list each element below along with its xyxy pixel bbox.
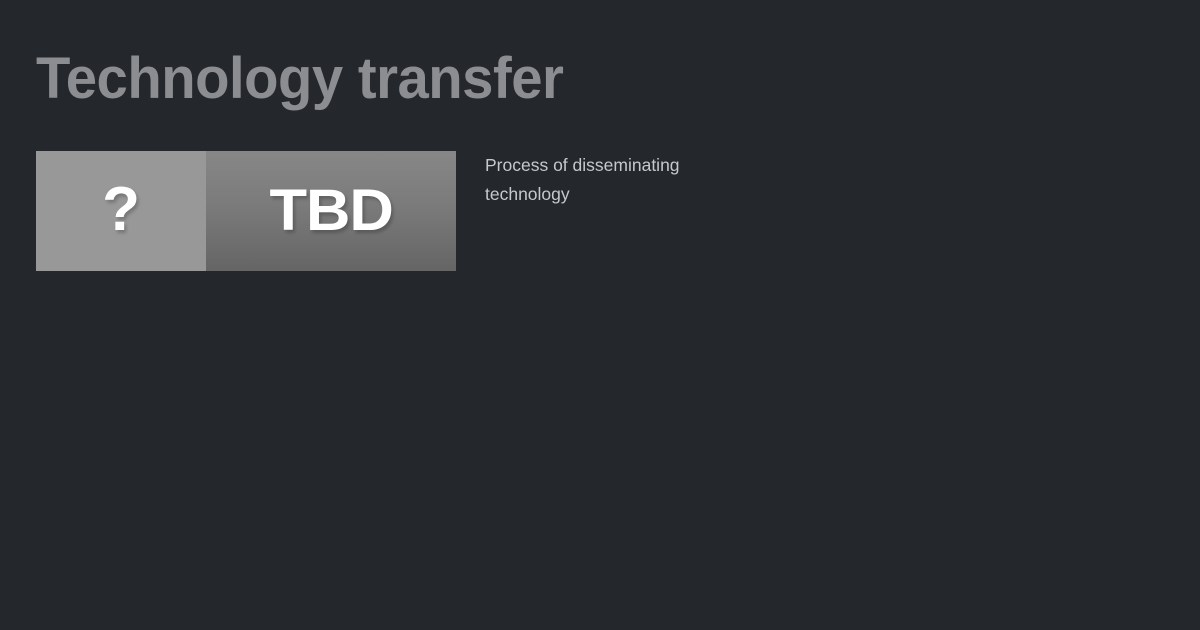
thumbnail-placeholder: ? TBD [36, 151, 456, 271]
question-mark-icon: ? [102, 179, 140, 241]
tbd-label: TBD [269, 182, 392, 240]
preview-card: Technology transfer ? TBD Process of dis… [0, 0, 1200, 630]
placeholder-question-pane: ? [36, 151, 206, 271]
card-body: ? TBD Process of disseminating technolog… [36, 151, 1164, 271]
page-title: Technology transfer [36, 44, 1132, 114]
placeholder-tbd-pane: TBD [206, 151, 456, 271]
page-description: Process of disseminating technology [485, 151, 750, 209]
